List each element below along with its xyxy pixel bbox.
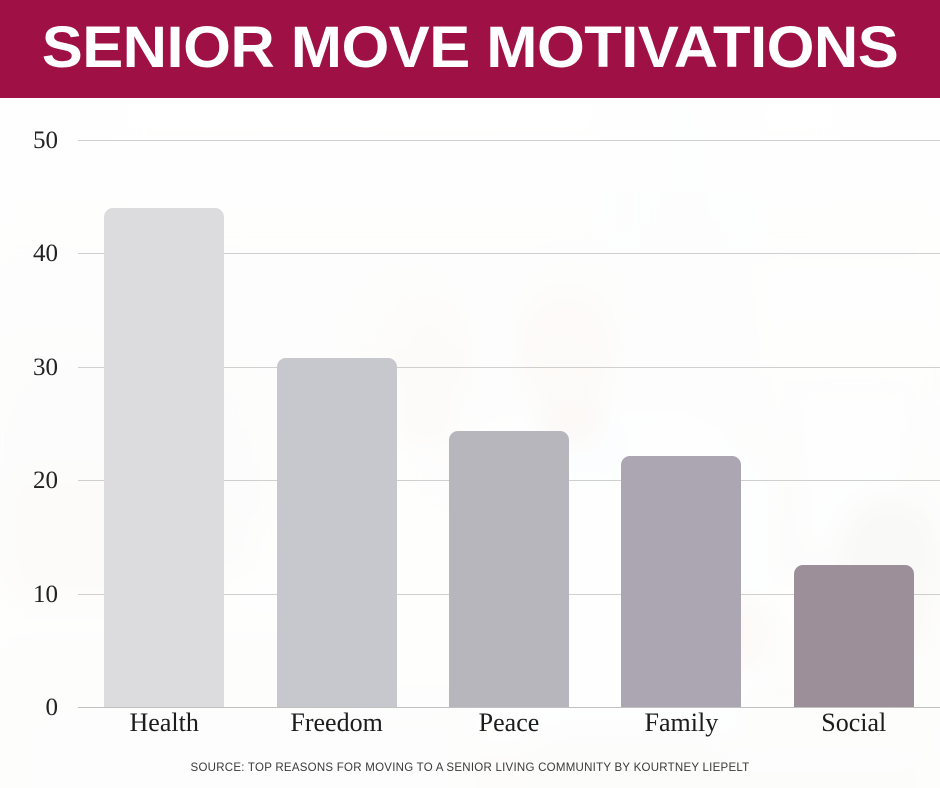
x-axis-tick-label: Health — [78, 710, 250, 736]
bar-social — [794, 565, 914, 707]
y-axis-tick-label: 10 — [0, 582, 58, 607]
header-banner: SENIOR MOVE MOTIVATIONS — [0, 0, 940, 98]
bar-family — [621, 456, 741, 707]
y-axis-tick-label: 40 — [0, 241, 58, 266]
y-axis-tick-label: 30 — [0, 355, 58, 380]
bar-chart: 01020304050 HealthFreedomPeaceFamilySoci… — [0, 98, 940, 788]
gridline — [78, 140, 940, 141]
source-caption: SOURCE: TOP REASONS FOR MOVING TO A SENI… — [0, 762, 940, 774]
y-axis-tick-label: 50 — [0, 128, 58, 153]
page-title: SENIOR MOVE MOTIVATIONS — [0, 0, 940, 98]
x-axis-tick-label: Social — [768, 710, 940, 736]
infographic-canvas: SENIOR MOVE MOTIVATIONS 01020304050 Heal… — [0, 0, 940, 788]
x-axis-tick-label: Freedom — [250, 710, 422, 736]
bar-freedom — [277, 358, 397, 707]
x-axis-tick-label: Peace — [423, 710, 595, 736]
bar-peace — [449, 431, 569, 707]
bar-health — [104, 208, 224, 707]
x-axis-tick-label: Family — [595, 710, 767, 736]
y-axis-tick-label: 0 — [0, 695, 58, 720]
y-axis-tick-label: 20 — [0, 468, 58, 493]
